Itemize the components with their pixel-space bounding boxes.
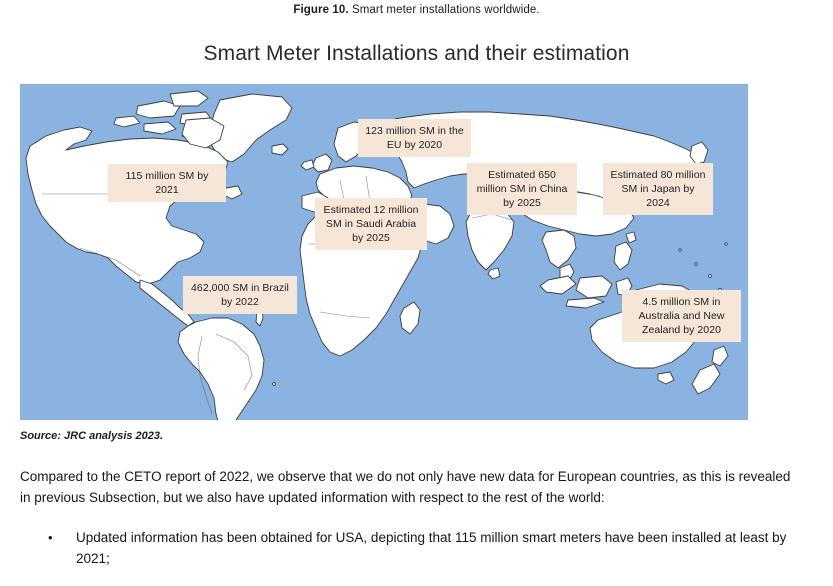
pacific-islet-f bbox=[725, 243, 727, 245]
figure-caption: Figure 10. Smart meter installations wor… bbox=[0, 4, 833, 16]
callout-japan[interactable]: Estimated 80 million SM in Japan by 2024 bbox=[603, 163, 713, 215]
callout-eu[interactable]: 123 million SM in the EU by 2020 bbox=[358, 119, 471, 157]
callout-saudi-arabia[interactable]: Estimated 12 million SM in Saudi Arabia … bbox=[315, 198, 427, 250]
bullet-marker-icon: • bbox=[48, 527, 53, 548]
pacific-islet-b bbox=[709, 275, 712, 278]
atlantic-islet-a bbox=[273, 383, 276, 386]
pacific-islet-d bbox=[695, 263, 698, 266]
callout-brazil[interactable]: 462,000 SM in Brazil by 2022 bbox=[183, 276, 297, 314]
chart-title: Smart Meter Installations and their esti… bbox=[0, 42, 833, 66]
callout-china[interactable]: Estimated 650 million SM in China by 202… bbox=[467, 163, 577, 215]
figure-number: Figure 10. bbox=[293, 4, 348, 16]
pacific-islet-e bbox=[679, 249, 681, 251]
callout-usa[interactable]: 115 million SM by 2021 bbox=[108, 164, 226, 202]
callout-australia-new-zealand[interactable]: 4.5 million SM in Australia and New Zeal… bbox=[622, 290, 741, 342]
world-map-figure: 115 million SM by 2021 123 million SM in… bbox=[20, 84, 748, 420]
source-note: Source: JRC analysis 2023. bbox=[20, 430, 163, 442]
list-item-text: Updated information has been obtained fo… bbox=[76, 530, 786, 566]
list-item: • Updated information has been obtained … bbox=[40, 527, 802, 569]
figure-caption-text: Smart meter installations worldwide. bbox=[352, 4, 540, 16]
bullet-list: • Updated information has been obtained … bbox=[40, 527, 802, 569]
body-paragraph: Compared to the CETO report of 2022, we … bbox=[20, 466, 802, 508]
